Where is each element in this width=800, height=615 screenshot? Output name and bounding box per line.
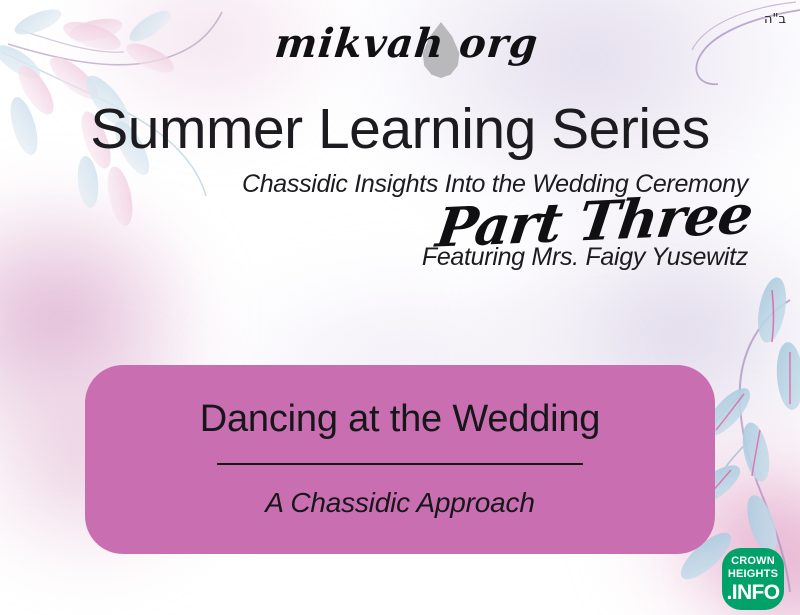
presenter-credit: Featuring Mrs. Faigy Yusewitz — [0, 243, 748, 272]
crownheights-info-logo[interactable]: CROWN HEIGHTS .INFO — [722, 548, 784, 610]
poster-canvas: ב"ה mikvah org Summer Learning Series Ch… — [0, 0, 800, 615]
panel-divider — [217, 463, 583, 465]
session-title: Dancing at the Wedding — [200, 400, 601, 438]
page-title: Summer Learning Series — [0, 101, 800, 158]
logo-wordmark: mikvah org — [273, 20, 528, 67]
session-subtitle: A Chassidic Approach — [265, 489, 534, 517]
badge-line-crown: CROWN — [731, 556, 775, 567]
badge-line-info: .INFO — [727, 582, 780, 603]
badge-line-heights: HEIGHTS — [728, 569, 778, 580]
session-topic-panel: Dancing at the Wedding A Chassidic Appro… — [85, 365, 715, 554]
mikvah-org-logo: mikvah org — [0, 14, 800, 92]
